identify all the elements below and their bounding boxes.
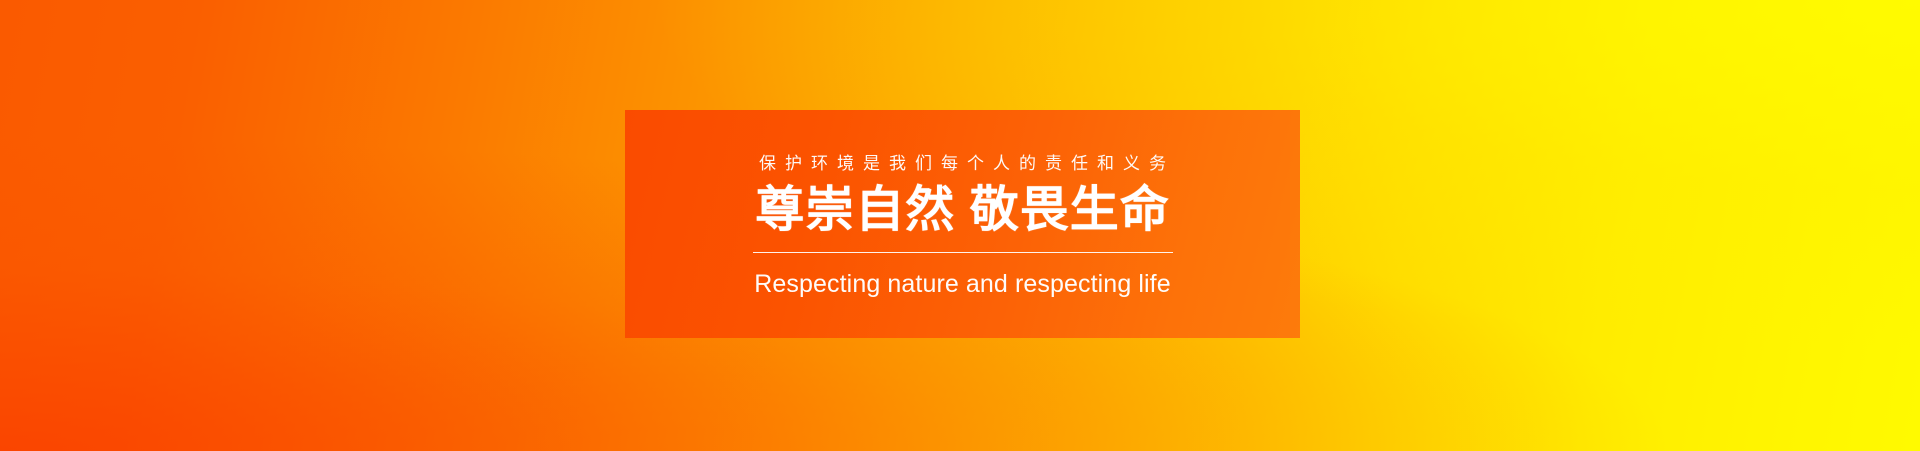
headline-chinese: 尊崇自然 敬畏生命: [755, 185, 1170, 237]
subtitle-english: Respecting nature and respecting life: [754, 272, 1170, 297]
slogan-panel-content: 保护环境是我们每个人的责任和义务 尊崇自然 敬畏生命 Respecting na…: [625, 151, 1300, 298]
tagline-chinese: 保护环境是我们每个人的责任和义务: [750, 155, 1175, 172]
headline-divider: [753, 252, 1173, 253]
environment-banner: 保护环境是我们每个人的责任和义务 尊崇自然 敬畏生命 Respecting na…: [0, 0, 1920, 451]
slogan-panel: 保护环境是我们每个人的责任和义务 尊崇自然 敬畏生命 Respecting na…: [625, 110, 1300, 338]
